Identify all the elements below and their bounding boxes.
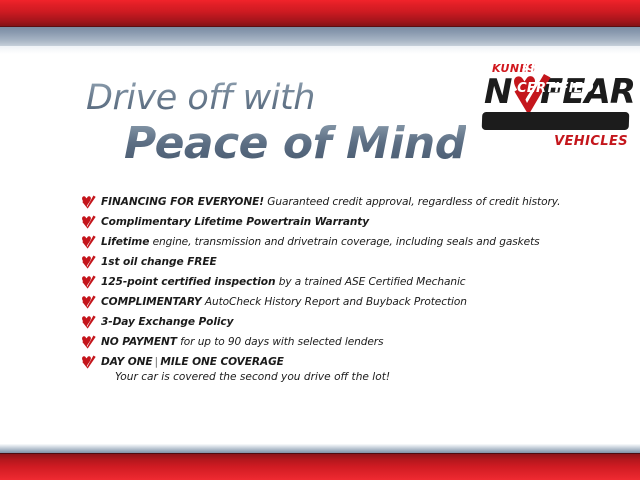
headline-line-1-text: Drive off with [86,78,315,118]
benefit-item: 3-Day Exchange Policy [80,312,580,332]
benefit-item: COMPLIMENTARY AutoCheck History Report a… [80,292,580,312]
benefit-item: 1st oil change FREE [80,252,580,272]
benefit-item: FINANCING FOR EVERYONE! Guaranteed credi… [80,192,580,212]
top-red-band [0,0,640,27]
benefit-item: Complimentary Lifetime Powertrain Warran… [80,212,580,232]
benefit-item: Lifetime engine, transmission and drivet… [80,232,580,252]
benefit-normal-text: AutoCheck History Report and Buyback Pro… [202,296,467,308]
red-check-icon [80,195,96,209]
benefit-strong-text: DAY ONE [101,356,153,368]
benefit-strong-text: NO PAYMENT [101,336,177,348]
headline-line-1: Drive off with [86,78,466,118]
benefit-item: 125-point certified inspection by a trai… [80,272,580,292]
benefit-strong-text: FINANCING FOR EVERYONE! [101,196,264,208]
logo-footer-vehicles: VEHICLES [554,134,628,149]
benefit-item: NO PAYMENT for up to 90 days with select… [80,332,580,352]
benefit-strong-text: Complimentary Lifetime Powertrain Warran… [101,216,369,228]
benefit-normal-text: by a trained ASE Certified Mechanic [275,276,465,288]
benefits-list: FINANCING FOR EVERYONE! Guaranteed credi… [80,192,580,388]
benefit-strong-text: 125-point certified inspection [101,276,275,288]
red-check-icon [80,235,96,249]
benefit-strong-text: COMPLIMENTARY [101,296,202,308]
benefit-strong-text-2: MILE ONE COVERAGE [160,356,283,368]
red-check-icon [80,295,96,309]
benefit-strong-text: Lifetime [101,236,149,248]
promo-card: Drive off with Peace of Mind KUNES N FEA… [0,0,640,480]
benefit-strong-text: 3-Day Exchange Policy [101,316,233,328]
red-check-icon [80,215,96,229]
red-check-icon [80,315,96,329]
headline-block: Drive off with Peace of Mind [86,78,466,168]
benefit-strong-text: 1st oil change FREE [101,256,217,268]
headline-line-2-text: Peace of Mind [124,118,466,169]
headline-line-2: Peace of Mind [124,120,466,168]
benefit-subtext: Your car is covered the second you drive… [115,369,580,386]
kunes-no-fear-logo: KUNES N FEAR LIFETIME CERTIFIED VEHICLES [482,62,630,154]
red-check-icon [80,255,96,269]
logo-ribbon-background [482,112,630,130]
top-steel-band-sheen [0,46,640,54]
logo-ribbon-label: LIFETIME CERTIFIED [482,62,629,80]
benefit-normal-text: engine, transmission and drivetrain cove… [149,236,539,248]
benefit-normal-text: for up to 90 days with selected lenders [177,336,384,348]
red-check-icon [80,275,96,289]
red-check-icon [80,355,96,369]
red-check-icon [80,335,96,349]
bottom-red-band [0,454,640,480]
benefit-item: DAY ONE|MILE ONE COVERAGEYour car is cov… [80,352,580,386]
benefit-normal-text: Guaranteed credit approval, regardless o… [264,196,560,208]
